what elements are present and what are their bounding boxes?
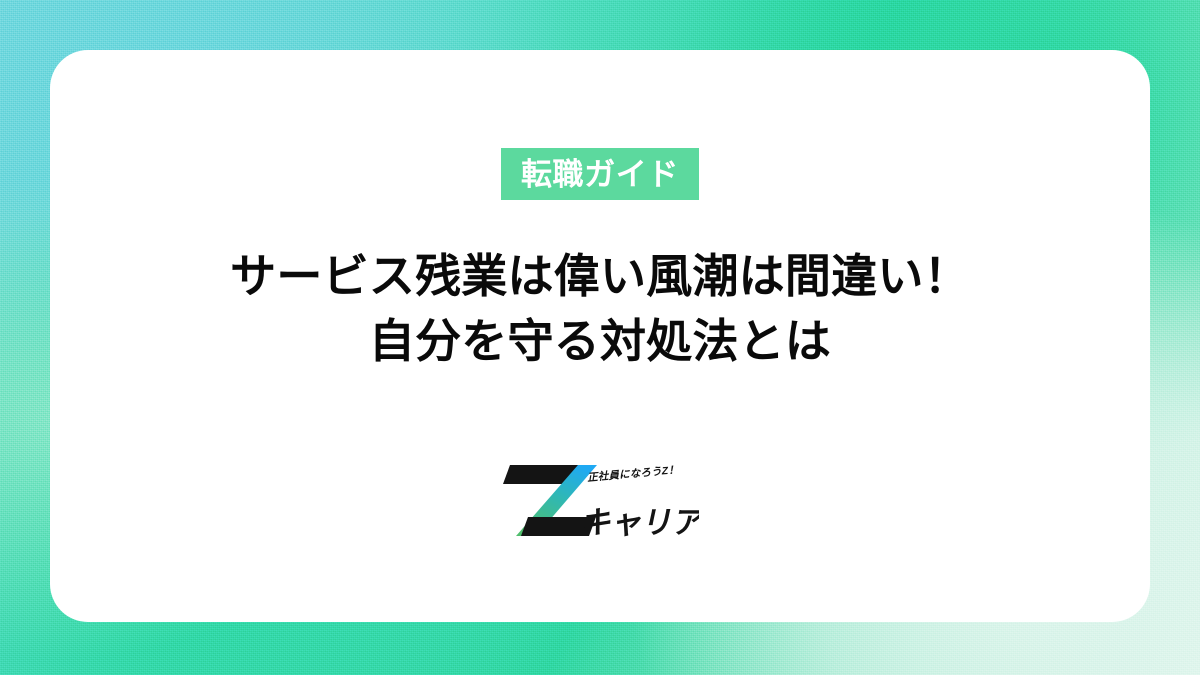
logo-tagline: 正社員になろうZ！ bbox=[587, 464, 680, 485]
logo-tagline-text: 正社員になろうZ！ bbox=[587, 464, 680, 485]
z-career-logo-svg: 正社員になろうZ！ キャリア bbox=[501, 457, 699, 543]
poster-canvas: 転職ガイド サービス残業は偉い風潮は間違い！ 自分を守る対処法とは bbox=[0, 0, 1200, 675]
category-badge: 転職ガイド bbox=[501, 148, 699, 200]
content-card: 転職ガイド サービス残業は偉い風潮は間違い！ 自分を守る対処法とは bbox=[50, 50, 1150, 622]
logo-wordmark: キャリア bbox=[578, 506, 699, 541]
page-title: サービス残業は偉い風潮は間違い！ 自分を守る対処法とは bbox=[230, 244, 970, 375]
logo-wordmark-text: キャリア bbox=[578, 506, 699, 541]
z-career-logo: 正社員になろうZ！ キャリア bbox=[501, 457, 699, 543]
page-title-line-1: サービス残業は偉い風潮は間違い！ bbox=[230, 244, 970, 309]
page-title-line-2: 自分を守る対処法とは bbox=[230, 309, 970, 374]
